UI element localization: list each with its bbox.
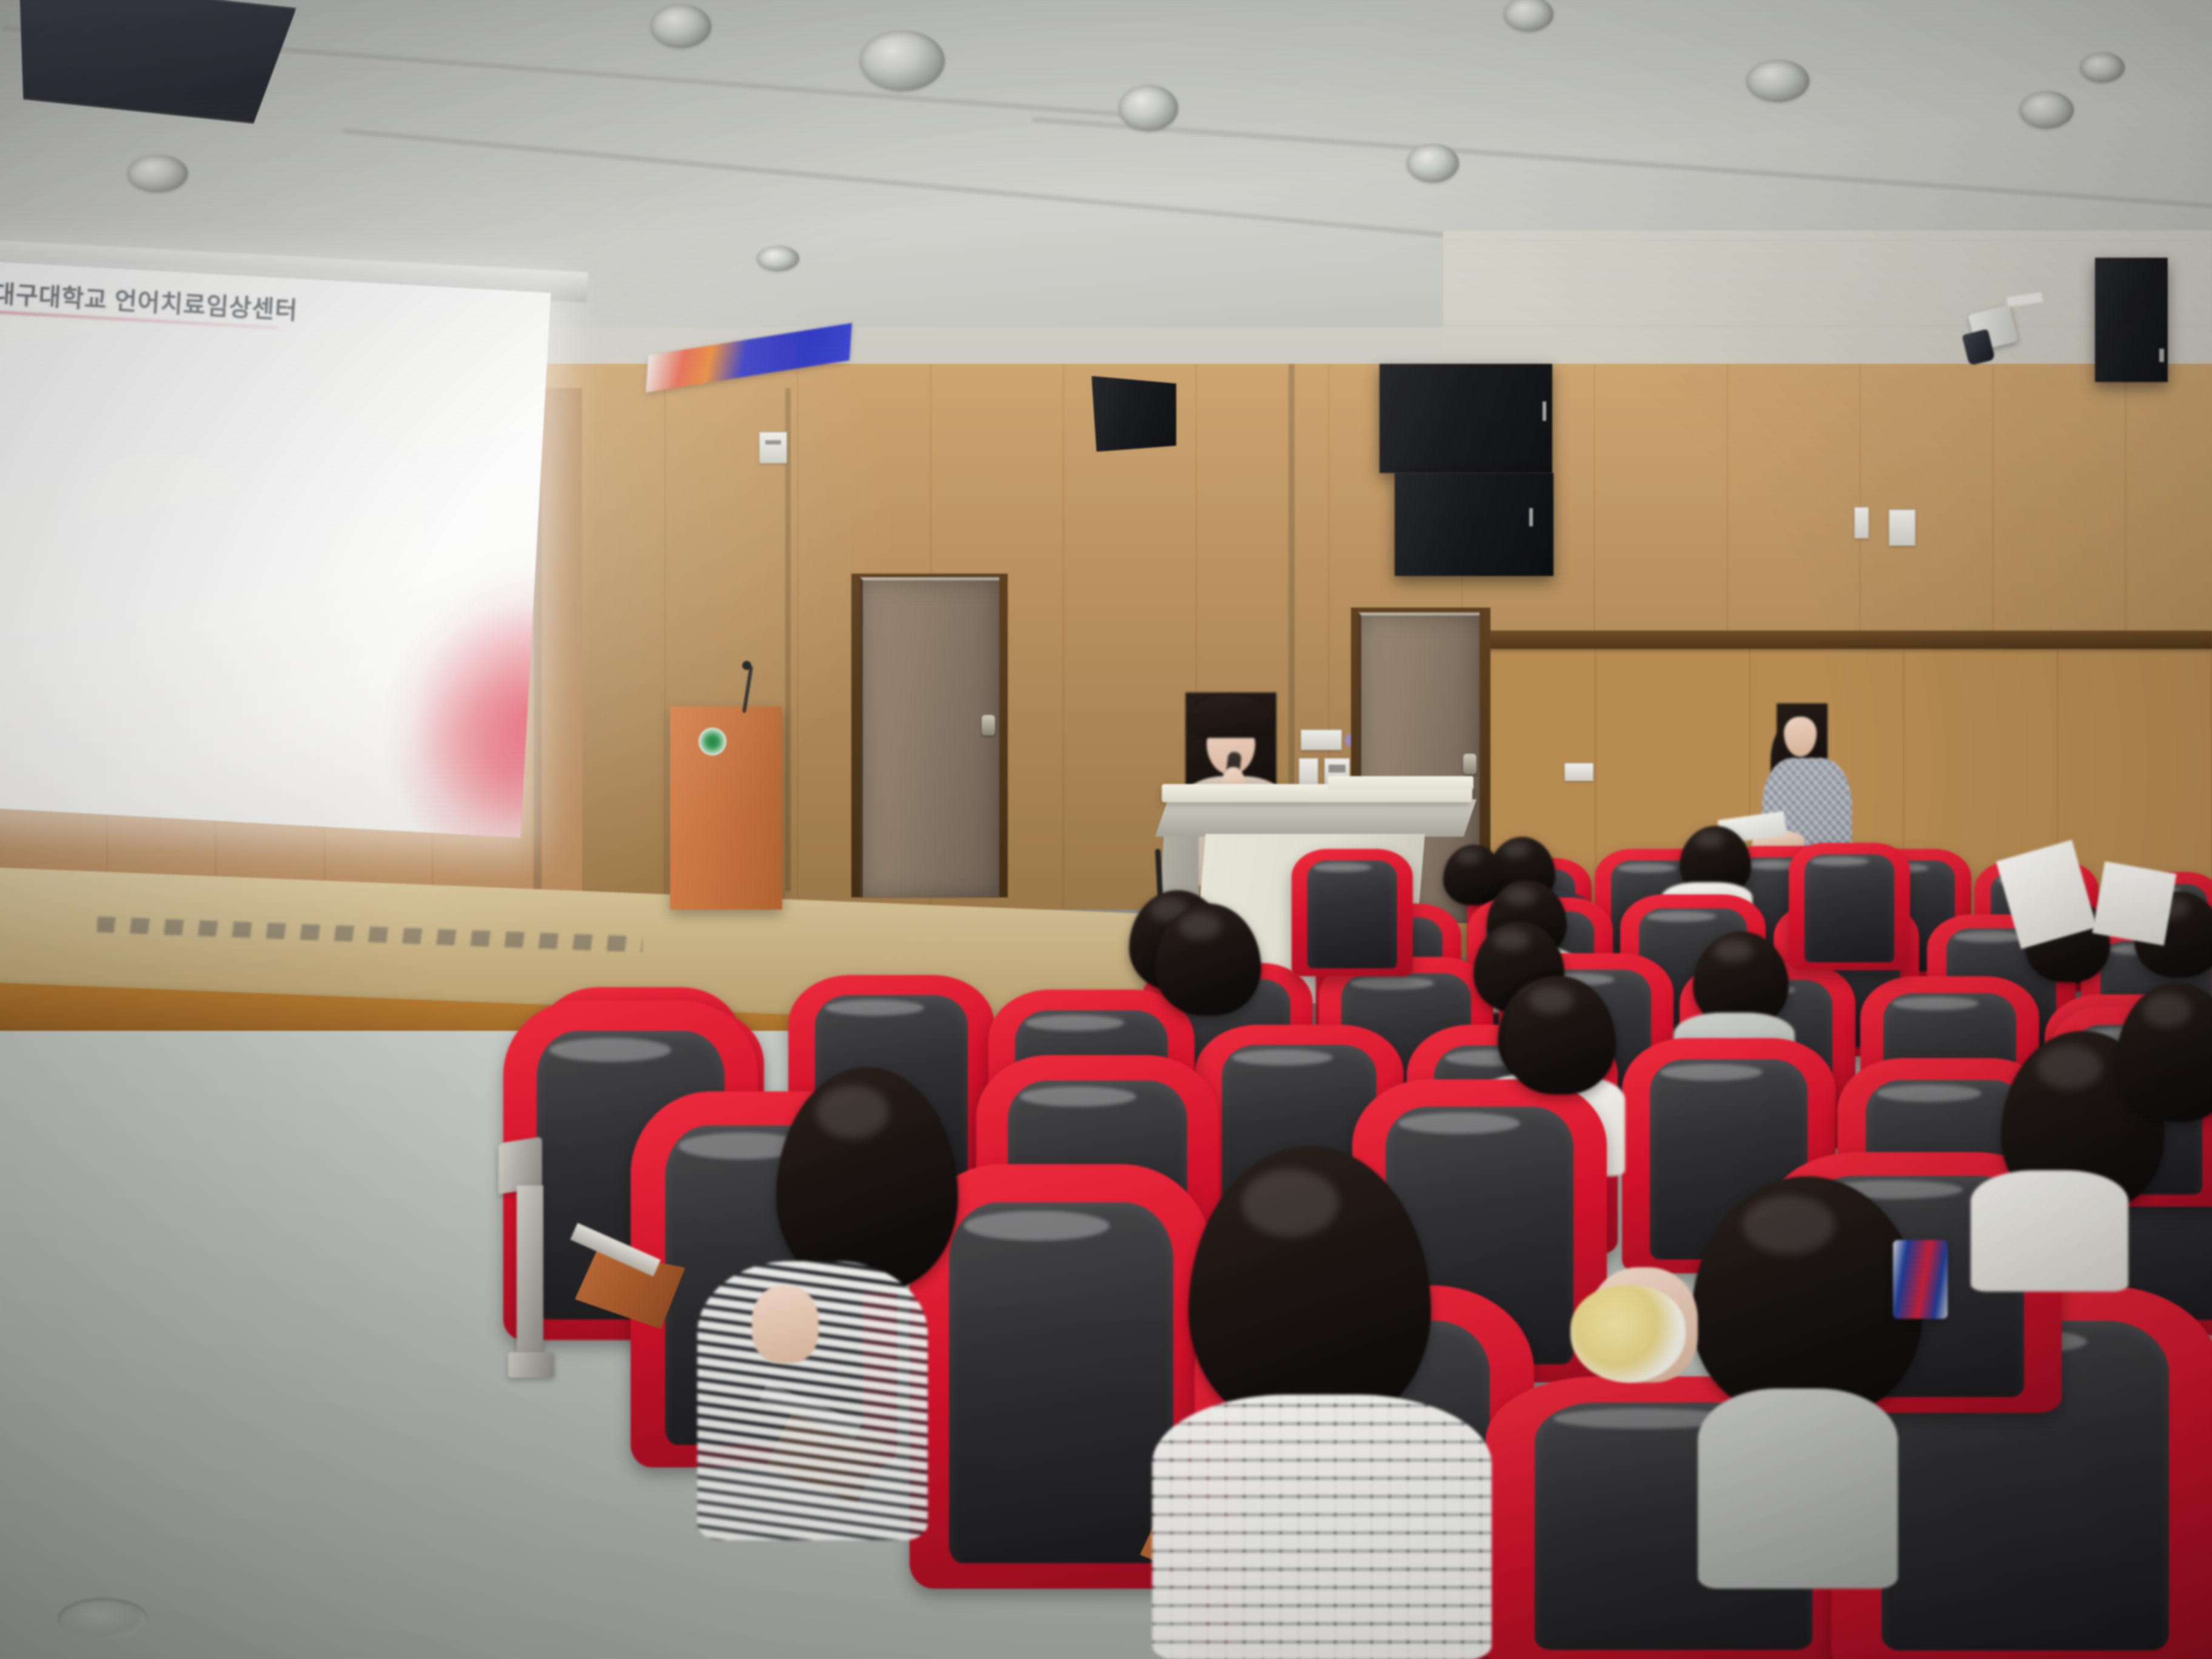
switch-slot: [765, 440, 781, 444]
wall-outlet-d: [1854, 507, 1869, 538]
speaker-right-wall: [2095, 258, 2168, 382]
speaker-left-wall: [1091, 376, 1176, 452]
handout-paper: [2092, 861, 2176, 945]
floor-drain: [58, 1598, 149, 1640]
wall-panel-a: [1301, 729, 1342, 750]
wall-outlet-right: [1889, 509, 1915, 546]
speaker-badge: [2159, 349, 2164, 362]
pepsi-can: [1893, 1240, 1948, 1319]
wall-seam: [785, 388, 791, 891]
ceiling-downlight: [127, 155, 188, 192]
gooseneck-mic-head-icon: [742, 661, 751, 670]
audience-hand: [752, 1285, 819, 1363]
ceiling-downlight: [757, 246, 799, 271]
ceiling-downlight: [2080, 52, 2125, 82]
audience-head: [1504, 976, 1616, 1094]
audience-torso: [1698, 1389, 1898, 1589]
audience-torso-checkered: [1152, 1395, 1492, 1659]
wall-trim: [1443, 631, 2212, 649]
wall-switch-left: [759, 432, 787, 463]
ceiling-downlight: [1407, 144, 1459, 183]
door-knob-icon[interactable]: [1463, 754, 1476, 774]
speaker-badge: [1543, 401, 1546, 421]
ceiling-downlight: [2019, 91, 2074, 129]
audience-torso: [1971, 1170, 2128, 1292]
wooden-lectern: [670, 706, 782, 910]
university-seal-icon: [699, 728, 726, 756]
stage-left-door[interactable]: [860, 577, 999, 897]
podium-bevel: [1155, 799, 1476, 837]
audience-head: [1188, 1146, 1431, 1431]
ceiling-downlight: [1119, 85, 1178, 131]
door-knob-icon[interactable]: [982, 715, 995, 736]
ceiling-downlight: [860, 30, 945, 91]
speaker-center-lower: [1395, 473, 1553, 576]
projection-screen: [0, 261, 551, 838]
auditorium-photograph: 대구대학교 언어치료임상센터: [0, 0, 2212, 1659]
speaker-center-upper: [1379, 364, 1552, 473]
audience-head: [1692, 1176, 1922, 1419]
audience-head: [1155, 903, 1261, 1016]
wall-outlet-c: [1564, 763, 1594, 781]
aisle-stanchion-post: [517, 1185, 543, 1367]
podium-desktop-upper: [1328, 776, 1473, 789]
audience-head: [2116, 982, 2212, 1122]
ceiling-downlight: [1746, 59, 1809, 102]
audience-head: [776, 1067, 958, 1292]
bread-roll: [1570, 1285, 1686, 1382]
ceiling-downlight: [651, 4, 711, 48]
wall-outlet-a: [1299, 758, 1318, 785]
seat[interactable]: [1292, 849, 1413, 976]
outlet-slot: [1329, 765, 1346, 773]
aisle-stanchion-base: [508, 1352, 554, 1378]
speaker-badge: [1529, 508, 1533, 526]
seat[interactable]: [1789, 843, 1910, 970]
